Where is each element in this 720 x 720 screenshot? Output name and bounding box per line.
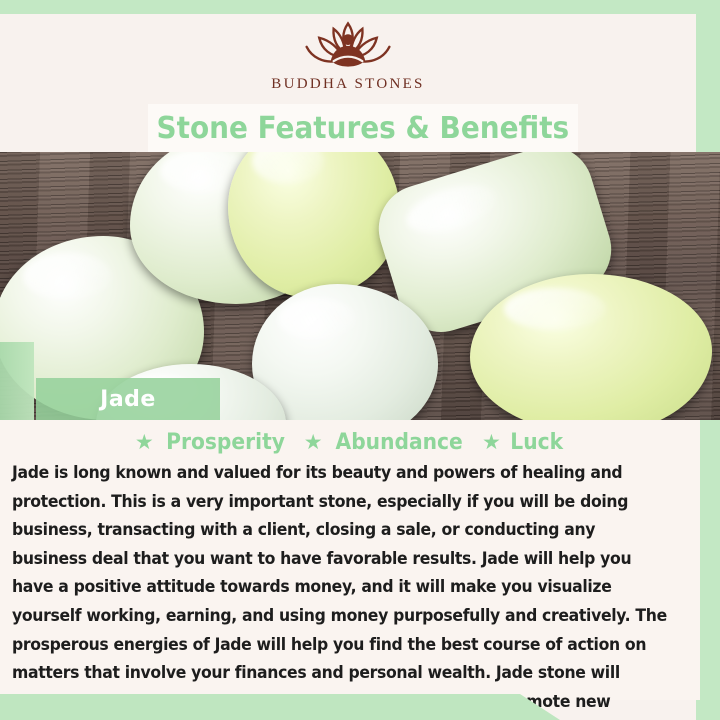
stone-highlight [401,176,501,240]
star-icon: ★ [135,432,154,453]
infographic-page: BUDDHA STONES Stone Features & Benefits [0,0,720,720]
left-green-strip [0,342,34,420]
keyword-label: Luck [510,430,563,455]
stone-highlight [23,253,111,301]
stone-highlight [278,298,356,340]
keyword-label: Prosperity [166,430,285,455]
star-icon: ★ [304,432,323,453]
brand-wordmark: BUDDHA STONES [271,76,424,93]
bottom-green-band [0,694,560,720]
keyword-prosperity: ★ Prosperity [135,430,290,455]
title-band: Stone Features & Benefits [148,104,578,152]
stone-name-label: Jade [100,387,156,412]
keyword-abundance: ★ Abundance [304,430,468,455]
keyword-label: Abundance [335,430,462,455]
page-title: Stone Features & Benefits [157,111,570,146]
description-text: Jade is long known and valued for its be… [12,459,667,720]
stone-highlight [252,152,324,184]
keyword-luck: ★ Luck [482,430,565,455]
keyword-row: ★ Prosperity ★ Abundance ★ Luck [0,430,700,455]
star-icon: ★ [482,432,501,453]
stone-highlight [504,288,606,330]
lotus-meditation-icon [294,16,402,74]
stone-name-band: Jade [36,378,220,420]
brand-logo-block: BUDDHA STONES [0,16,696,104]
